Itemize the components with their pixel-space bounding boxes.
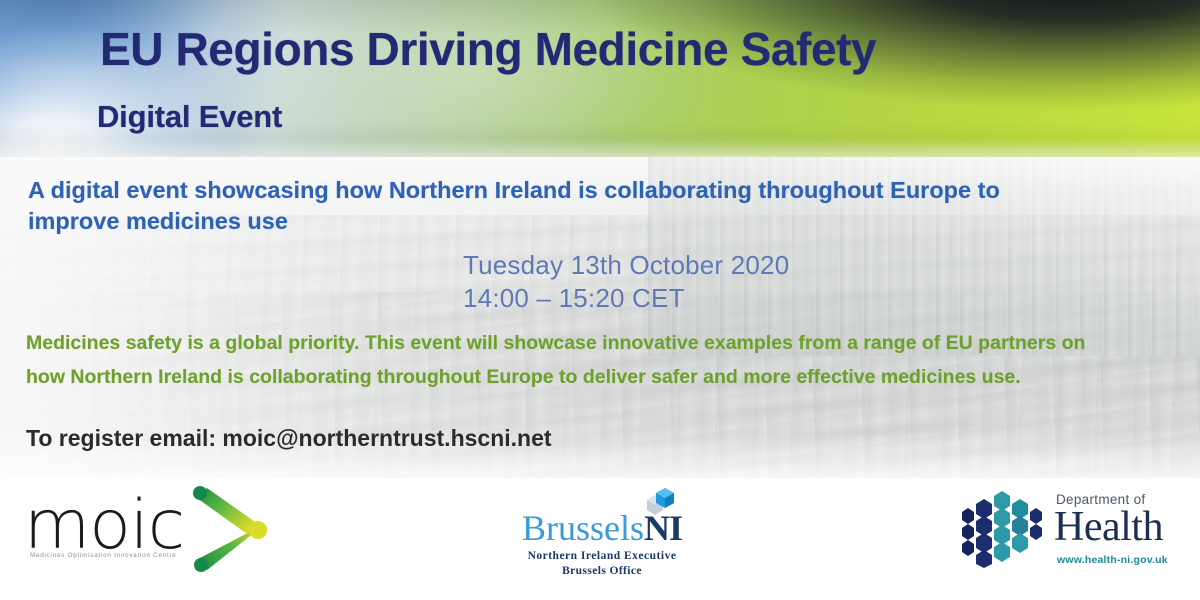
header-banner: EU Regions Driving Medicine Safety Digit…	[0, 0, 1200, 157]
doh-hexagon-icon	[958, 490, 1042, 570]
moic-chevron-icon	[187, 486, 269, 574]
title-block: EU Regions Driving Medicine Safety Digit…	[0, 0, 1200, 157]
event-poster: EU Regions Driving Medicine Safety Digit…	[0, 0, 1200, 600]
logo-moic: moic Medicines Optimisation Innovation C…	[24, 488, 264, 584]
logo-brusselsni: BrusselsNI Northern Ireland Executive Br…	[492, 484, 712, 584]
doh-health-label: Health	[1054, 506, 1163, 548]
page-title: EU Regions Driving Medicine Safety	[100, 22, 876, 76]
registration-line: To register email: moic@northerntrust.hs…	[26, 425, 552, 452]
brusselsni-subline-1: Northern Ireland Executive	[492, 550, 712, 562]
brusselsni-wordmark: BrusselsNI	[492, 510, 712, 546]
event-lede: A digital event showcasing how Northern …	[28, 175, 1068, 238]
logo-department-of-health: Department of Health www.health-ni.gov.u…	[958, 488, 1188, 580]
brusselsni-word-brussels: Brussels	[522, 508, 644, 548]
page-subtitle: Digital Event	[97, 99, 282, 135]
brusselsni-subline-2: Brussels Office	[492, 565, 712, 577]
event-time: 14:00 – 15:20 CET	[463, 282, 789, 315]
doh-website-url: www.health-ni.gov.uk	[1057, 554, 1168, 566]
event-datetime: Tuesday 13th October 2020 14:00 – 15:20 …	[463, 249, 789, 316]
event-date: Tuesday 13th October 2020	[463, 249, 789, 282]
footer-logo-bar: moic Medicines Optimisation Innovation C…	[0, 478, 1200, 600]
brusselsni-word-ni: NI	[644, 508, 682, 548]
moic-tagline: Medicines Optimisation Innovation Centre	[30, 552, 177, 559]
body-text-group: A digital event showcasing how Northern …	[0, 157, 1200, 478]
body-section: A digital event showcasing how Northern …	[0, 157, 1200, 478]
moic-wordmark: moic	[24, 492, 184, 560]
event-description: Medicines safety is a global priority. T…	[26, 327, 1106, 394]
